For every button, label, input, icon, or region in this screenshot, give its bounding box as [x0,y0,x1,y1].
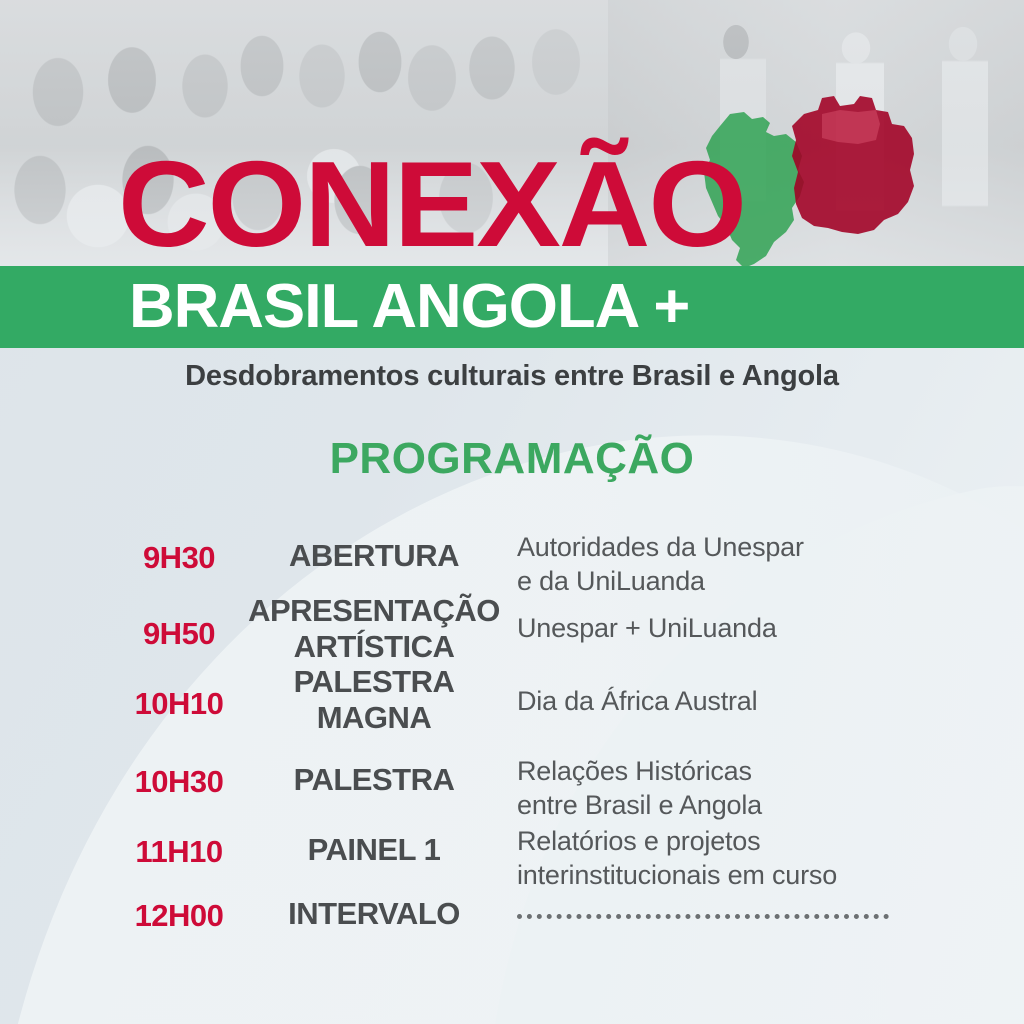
schedule-description-line: interinstitucionais em curso [517,858,947,892]
schedule-description: Dia da África Austral [517,684,947,718]
schedule-time: 9H30 [104,540,254,576]
schedule-time: 10H10 [104,686,254,722]
schedule-description-line: Unespar + UniLuanda [517,611,947,645]
schedule-activity-title-line: MAGNA [248,700,500,736]
schedule-description-line: e da UniLuanda [517,564,947,598]
schedule-activity-title-line: PALESTRA [248,664,500,700]
schedule-activity-title: PAINEL 1 [248,832,500,868]
schedule-description-line: Relatórios e projetos [517,824,947,858]
schedule-activity-title: PALESTRA [248,762,500,798]
schedule-activity-title: APRESENTAÇÃOARTÍSTICA [248,593,500,665]
schedule-description: Relatórios e projetosinterinstitucionais… [517,824,947,892]
schedule-activity-title: PALESTRAMAGNA [248,664,500,736]
schedule-description-line: entre Brasil e Angola [517,788,947,822]
schedule-activity-title: ABERTURA [248,538,500,574]
schedule-description: Autoridades da Unespare da UniLuanda [517,530,947,598]
schedule-description-line: Relações Históricas [517,754,947,788]
schedule-description: Relações Históricasentre Brasil e Angola [517,754,947,822]
schedule-activity-title-line: ARTÍSTICA [248,629,500,665]
page-title: CONEXÃO [118,143,745,265]
banner-title: BRASIL ANGOLA + [129,274,689,340]
schedule-activity-title-line: APRESENTAÇÃO [248,593,500,629]
schedule-description: Unespar + UniLuanda [517,611,947,645]
subtitle: Desdobramentos culturais entre Brasil e … [0,360,1024,393]
section-heading-programacao: PROGRAMAÇÃO [0,434,1024,484]
schedule-description-line: Autoridades da Unespar [517,530,947,564]
schedule-time: 10H30 [104,764,254,800]
schedule-time: 12H00 [104,898,254,934]
schedule-dotted-separator [517,914,889,919]
schedule-time: 11H10 [104,834,254,870]
schedule-description-line: Dia da África Austral [517,684,947,718]
schedule-time: 9H50 [104,616,254,652]
schedule-activity-title: INTERVALO [248,896,500,932]
event-poster: CONEXÃO BRASIL ANGOLA + Desdobramentos c… [0,0,1024,1024]
angola-map-icon [788,92,916,238]
